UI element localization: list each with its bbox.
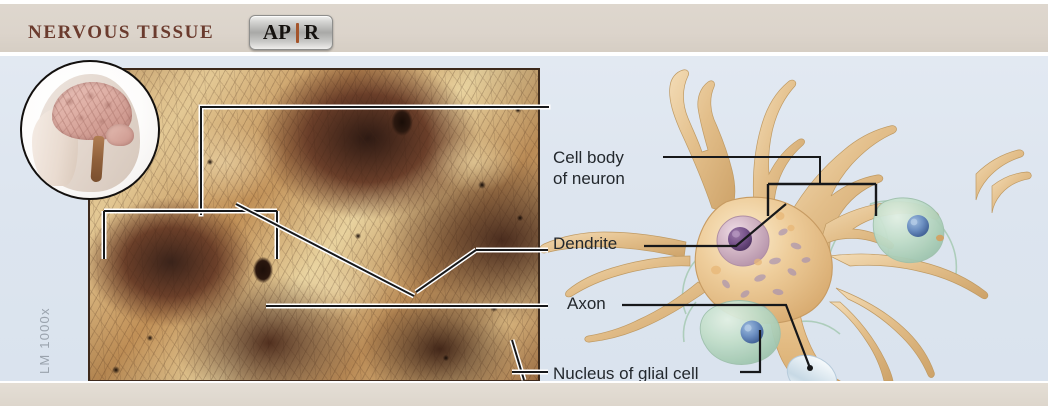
page-title: NERVOUS TISSUE — [28, 22, 214, 44]
nervous-tissue-figure: NERVOUS TISSUE AP R LM 1000x — [0, 0, 1048, 406]
cerebellum-icon — [106, 124, 134, 146]
magnification-label: LM 1000x — [37, 307, 52, 374]
apr-badge-right-text: R — [304, 22, 319, 43]
footer-band — [0, 383, 1048, 406]
label-dendrite: Dendrite — [553, 234, 617, 255]
glial-cell-left — [700, 301, 780, 365]
apr-badge-left-text: AP — [263, 22, 291, 43]
apr-badge-inner: AP R — [263, 22, 319, 43]
label-axon: Axon — [567, 294, 606, 315]
label-cell-body: Cell body of neuron — [553, 148, 625, 189]
header-band: NERVOUS TISSUE AP R — [0, 4, 1048, 52]
neuron-illustration[interactable] — [540, 56, 1048, 381]
apr-badge-divider — [296, 23, 299, 43]
figure-panel: LM 1000x — [0, 56, 1048, 381]
glial-cell-right — [873, 198, 944, 263]
apr-badge[interactable]: AP R — [249, 15, 333, 50]
brain-profile-inset-icon[interactable] — [20, 60, 160, 200]
label-nucleus-glial-cell: Nucleus of glial cell — [553, 364, 699, 381]
